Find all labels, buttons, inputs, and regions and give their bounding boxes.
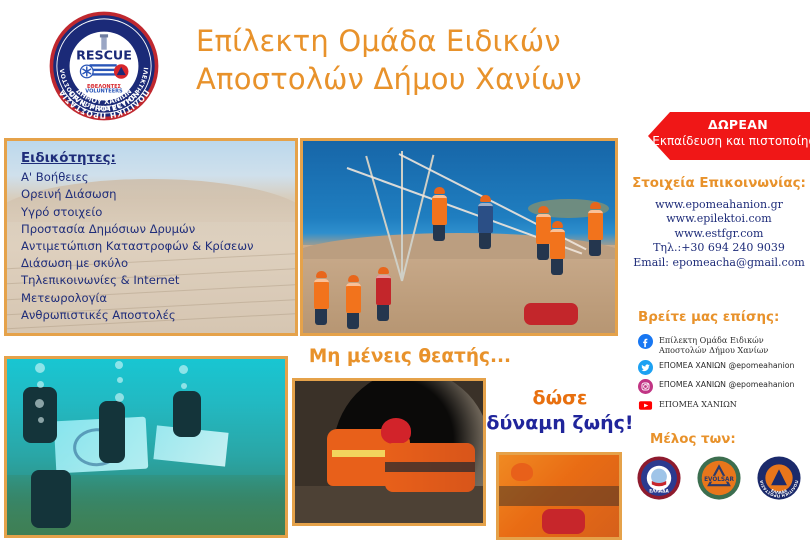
diver-figure <box>31 470 71 528</box>
contact-heading: Στοιχεία Επικοινωνίας: <box>628 176 810 191</box>
specialty-item: Ορεινή Διάσωση <box>21 186 289 203</box>
badge-text: ΕΛΛΑΔΑ <box>649 488 669 494</box>
contact-website[interactable]: www.epomeahanion.gr <box>628 198 810 212</box>
specialty-item: Τηλεπικοινωνίες & Internet <box>21 272 289 289</box>
stretcher-strap <box>499 486 619 506</box>
specialties-list: Ειδικότητες: Α' Βοήθειες Ορεινή Διάσωση … <box>21 150 289 324</box>
rescuer-figure <box>587 202 603 256</box>
free-training-ribbon: ΔΩΡΕΑΝ Εκπαίδευση και πιστοποίηση <box>648 112 810 160</box>
slogan-give-life: δώσε δύναμη ζωής! <box>474 386 646 436</box>
rescue-emblem-icon: ΠΟΛΙΤΙΚΗ ΠΡΟΣΤΑΣΙΑ ΕΠΙΛΕΚΤΗ ΟΜΑΔΑ ΕΙΔΙΚΩ… <box>40 8 168 124</box>
contact-website[interactable]: www.epilektoi.com <box>628 212 810 226</box>
youtube-label: ΕΠΟΜΕΑ ΧΑΝΙΩΝ <box>659 398 737 409</box>
badge-text: EVOLSAR <box>704 477 734 483</box>
ribbon-line-1: ΔΩΡΕΑΝ <box>648 116 810 133</box>
contact-website[interactable]: www.estfgr.com <box>628 227 810 241</box>
social-row-youtube[interactable]: ΕΠΟΜΕΑ ΧΑΝΙΩΝ <box>628 398 810 413</box>
instagram-icon[interactable] <box>638 379 653 394</box>
social-section: Βρείτε μας επίσης: Επίλεκτη Ομάδα Ειδικώ… <box>628 310 810 417</box>
contact-phone: Τηλ.:+30 694 240 9039 <box>628 241 810 255</box>
hellenic-rescue-badge-icon: ΕΛΛΑΔΑ <box>636 455 682 501</box>
bubble-trail <box>115 359 127 429</box>
member-badges-row: ΕΛΛΑΔΑ EVOLSAR ΠΟΛΙΤΙΚΗ ΠΡΟΣΤΑΣΙΑ <box>628 455 810 501</box>
svg-text:RESCUE: RESCUE <box>76 48 132 63</box>
underwater-divers-photo <box>4 356 288 538</box>
rescuer-figure <box>431 187 447 241</box>
page-title: Επίλεκτη Ομάδα Ειδικών Αποστολών Δήμου Χ… <box>196 22 646 98</box>
twitter-icon[interactable] <box>638 360 653 375</box>
poster-root: ΠΟΛΙΤΙΚΗ ΠΡΟΣΤΑΣΙΑ ΕΠΙΛΕΚΤΗ ΟΜΑΔΑ ΕΙΔΙΚΩ… <box>0 0 810 540</box>
slogan-life-power: δύναμη ζωής! <box>474 411 646 436</box>
rescuer-figure <box>549 221 565 275</box>
evolsar-badge-icon: EVOLSAR <box>696 455 742 501</box>
stretcher-closeup-photo <box>496 452 622 540</box>
youtube-icon[interactable] <box>638 398 653 413</box>
bubble-trail <box>35 359 47 440</box>
slogan-give: δώσε <box>474 386 646 411</box>
specialties-title: Ειδικότητες: <box>21 150 289 167</box>
red-equipment <box>542 509 585 534</box>
specialties-panel: Ειδικότητες: Α' Βοήθειες Ορεινή Διάσωση … <box>4 138 298 336</box>
social-row-facebook[interactable]: Επίλεκτη Ομάδα Ειδικών Αποστολών Δήμου Χ… <box>628 334 810 356</box>
contact-email[interactable]: Email: epomeacha@gmail.com <box>628 256 810 270</box>
rescuer-figure <box>345 275 361 329</box>
rescue-equipment-bag <box>524 303 578 325</box>
slogan-watcher: Μη μένεις θεατής... <box>300 346 520 367</box>
rescuer-figure <box>313 271 329 325</box>
red-helmet-icon <box>381 418 411 444</box>
specialty-item: Αντιμετώπιση Καταστροφών & Κρίσεων <box>21 238 289 255</box>
rescue-emblem-logo: ΠΟΛΙΤΙΚΗ ΠΡΟΣΤΑΣΙΑ ΕΠΙΛΕΚΤΗ ΟΜΑΔΑ ΕΙΔΙΚΩ… <box>40 8 168 124</box>
social-row-twitter[interactable]: ΕΠΟΜΕΑ ΧΑΝΙΩΝ @epomeahanion <box>628 360 810 375</box>
social-heading: Βρείτε μας επίσης: <box>628 310 810 325</box>
specialty-item: Α' Βοήθειες <box>21 169 289 186</box>
facebook-icon[interactable] <box>638 334 653 349</box>
civil-protection-badge-icon: ΠΟΛΙΤΙΚΗ ΠΡΟΣΤΑΣΙΑ ΕΛΛΑΔΑ <box>756 455 802 501</box>
contact-section: Στοιχεία Επικοινωνίας: www.epomeahanion.… <box>628 176 810 270</box>
title-line-2: Αποστολών Δήμου Χανίων <box>196 60 646 98</box>
contact-lines: www.epomeahanion.gr www.epilektoi.com ww… <box>628 198 810 270</box>
specialty-item: Ανθρωπιστικές Αποστολές <box>21 307 289 324</box>
specialty-item: Προστασία Δημόσιων Δρυμών <box>21 221 289 238</box>
svg-text:VOLUNTEERS: VOLUNTEERS <box>85 89 123 95</box>
specialty-item: Διάσωση με σκύλο <box>21 255 289 272</box>
specialty-item: Υγρό στοιχείο <box>21 204 289 221</box>
culvert-rescue-photo <box>292 378 486 526</box>
rescuer-figure <box>477 195 493 249</box>
cliff-rescue-photo <box>300 138 618 336</box>
instagram-label: ΕΠΟΜΕΑ ΧΑΝΙΩΝ @epomeahanion <box>659 379 795 390</box>
twitter-label: ΕΠΟΜΕΑ ΧΑΝΙΩΝ @epomeahanion <box>659 360 795 371</box>
title-line-1: Επίλεκτη Ομάδα Ειδικών <box>196 22 646 60</box>
bubble-trail <box>179 359 191 419</box>
rescuer-figure <box>375 267 391 321</box>
specialty-item: Μετεωρολογία <box>21 290 289 307</box>
members-section: Μέλος των: ΕΛΛΑΔΑ EVOLSAR <box>628 432 810 501</box>
facebook-label: Επίλεκτη Ομάδα Ειδικών Αποστολών Δήμου Χ… <box>659 334 810 356</box>
rescue-stretcher <box>385 443 475 491</box>
social-row-instagram[interactable]: ΕΠΟΜΕΑ ΧΑΝΙΩΝ @epomeahanion <box>628 379 810 394</box>
poster-header: ΠΟΛΙΤΙΚΗ ΠΡΟΣΤΑΣΙΑ ΕΠΙΛΕΚΤΗ ΟΜΑΔΑ ΕΙΔΙΚΩ… <box>0 0 810 128</box>
members-heading: Μέλος των: <box>628 432 810 447</box>
helmet-icon <box>511 463 533 481</box>
ribbon-line-2: Εκπαίδευση και πιστοποίηση <box>648 133 810 150</box>
